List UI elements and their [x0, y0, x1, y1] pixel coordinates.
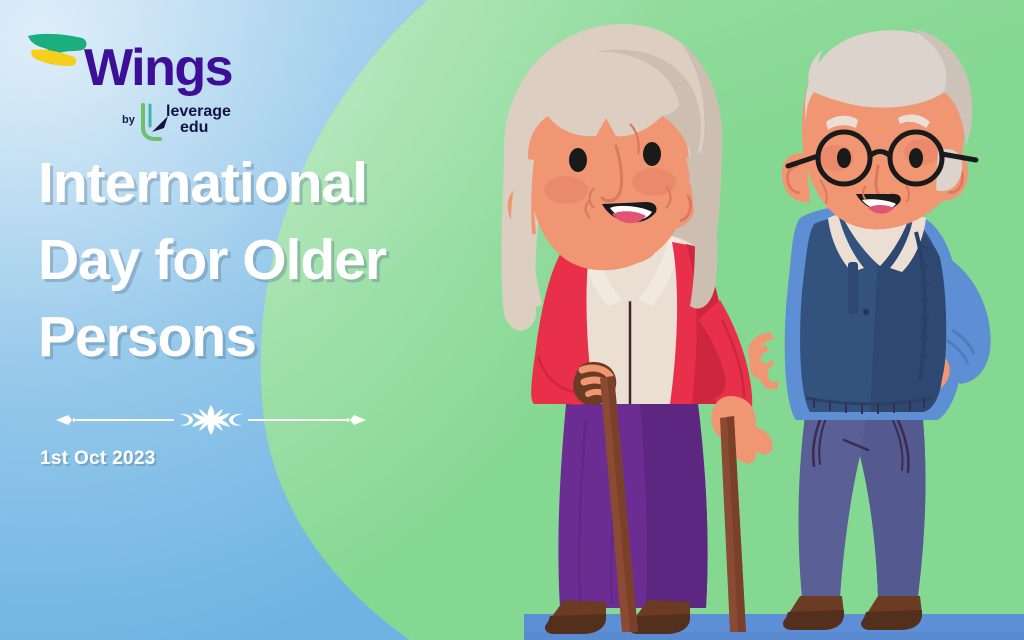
logo-wordmark: Wings	[84, 42, 232, 94]
illustration-elderly-couple	[470, 0, 1024, 640]
logo-sub-line1: leverage	[166, 103, 231, 120]
brand-logo[interactable]: Wings by leverage edu	[26, 24, 241, 134]
logo-sub-wordmark: leverage edu	[166, 104, 231, 136]
poster-canvas: Wings by leverage edu International Day …	[0, 0, 1024, 640]
headline-line-1: International	[38, 145, 508, 222]
figure-elderly-woman	[501, 24, 772, 634]
page-title: International Day for Older Persons	[38, 145, 508, 376]
ornamental-flourish-divider	[36, 403, 386, 437]
event-date: 1st Oct 2023	[40, 448, 156, 470]
headline-line-3: Persons	[38, 299, 508, 376]
logo-by-label: by	[122, 114, 135, 126]
headline-line-2: Day for Older	[38, 222, 508, 299]
logo-sub-line2: edu	[180, 120, 231, 136]
figure-elderly-man	[748, 28, 991, 630]
